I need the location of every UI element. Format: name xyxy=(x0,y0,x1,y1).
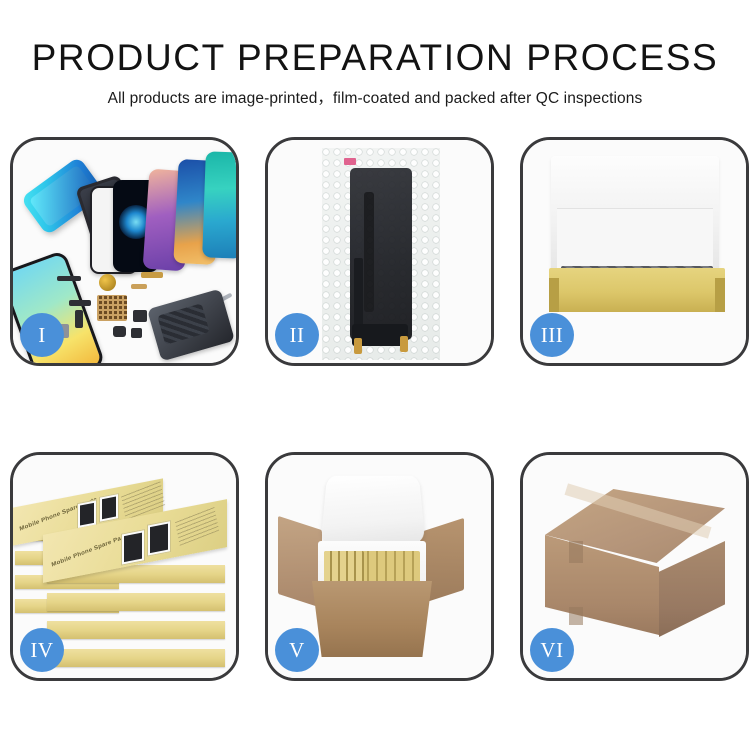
chip-array-part xyxy=(97,295,127,321)
earpiece-part xyxy=(131,328,142,338)
box-left-flap xyxy=(549,278,559,312)
step-2-badge: II xyxy=(275,313,319,357)
header: PRODUCT PREPARATION PROCESS All products… xyxy=(0,0,750,109)
box-right-flap xyxy=(715,278,725,312)
step-panel-6: VI xyxy=(520,452,749,681)
vibrator-part xyxy=(113,326,126,337)
step-panel-3: III xyxy=(520,137,749,366)
carton-body xyxy=(312,581,432,657)
button-flex-part xyxy=(141,272,163,278)
step-panel-1: I xyxy=(10,137,239,366)
gold-contact-left xyxy=(354,338,362,354)
connector-part xyxy=(75,310,83,328)
packing-tape-front-lower xyxy=(569,607,583,625)
product-preparation-infographic: PRODUCT PREPARATION PROCESS All products… xyxy=(0,0,750,750)
step-panel-5: V xyxy=(265,452,494,681)
volume-flex-part xyxy=(131,284,147,289)
steps-grid: I II xyxy=(10,137,740,682)
packing-tape-front-upper xyxy=(569,541,583,563)
step-panel-2: II xyxy=(265,137,494,366)
ribbon-cable-part xyxy=(69,300,91,306)
step-6-badge: VI xyxy=(530,628,574,672)
box-label-text: Mobile Phone Spare Parts xyxy=(51,533,130,569)
yellow-inner-box-base xyxy=(549,268,725,312)
phone-back-housing xyxy=(147,289,235,362)
step-1-badge: I xyxy=(20,313,64,357)
box-spec-lines xyxy=(175,506,219,546)
step-5-badge: V xyxy=(275,628,319,672)
step-4-badge: IV xyxy=(20,628,64,672)
foam-box-lid-open xyxy=(320,476,425,543)
box-window-left xyxy=(121,529,145,566)
pink-label-sticker xyxy=(344,158,356,165)
camera-module-part xyxy=(133,310,147,322)
speaker-coil-part xyxy=(99,274,116,291)
box-window-right xyxy=(147,520,171,557)
phone-screen-teal xyxy=(202,151,239,258)
box-stack-item xyxy=(47,649,225,667)
step-3-badge: III xyxy=(530,313,574,357)
step-panel-4: Mobile Phone Spare Parts Mobile Phone Sp… xyxy=(10,452,239,681)
flex-cable-part xyxy=(57,276,81,281)
gold-contact-right xyxy=(400,336,408,352)
white-foam-sheet xyxy=(551,156,719,272)
bubble-wrap-bag xyxy=(322,148,440,360)
page-title: PRODUCT PREPARATION PROCESS xyxy=(0,36,750,80)
box-stack-item xyxy=(47,593,225,611)
box-window-right xyxy=(99,493,119,523)
carton-side-face xyxy=(659,541,725,637)
box-stack-item xyxy=(47,621,225,639)
page-subtitle: All products are image-printed，film-coat… xyxy=(0,89,750,109)
